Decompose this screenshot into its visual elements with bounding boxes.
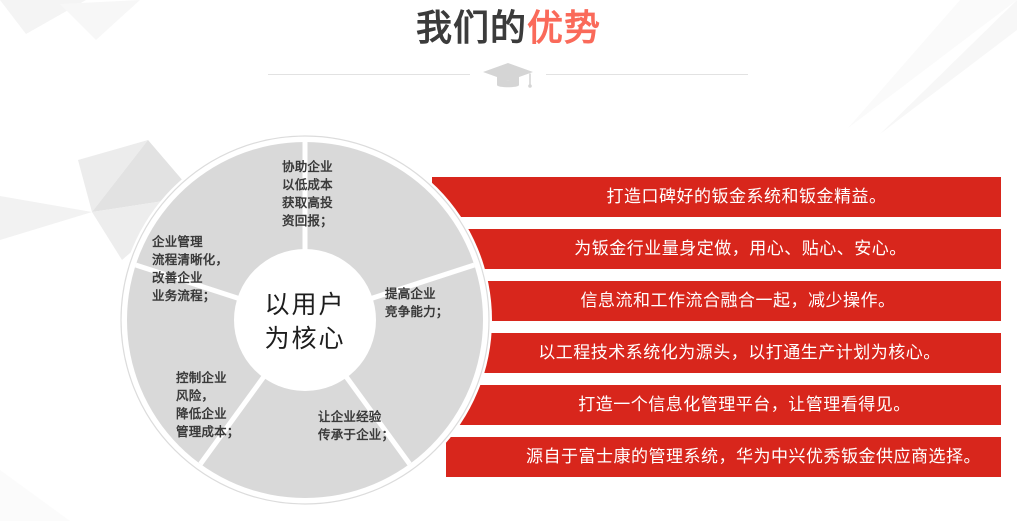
advantage-bar[interactable]: 打造口碑好的钣金系统和钣金精益。 bbox=[432, 177, 1001, 217]
advantage-bar-text: 以工程技术系统化为源头，以打通生产计划为核心。 bbox=[418, 342, 1001, 364]
advantage-bar-text: 打造一个信息化管理平台，让管理看得见。 bbox=[428, 394, 1001, 416]
advantages-section: 我们的优势 打造口碑好的钣金系统和钣金精益。 为钣金行业量身定做，用心、贴心、安… bbox=[0, 0, 1017, 521]
advantage-bar[interactable]: 为钣金行业量身定做，用心、贴心、安心。 bbox=[420, 229, 1001, 269]
segment-label-left-lower: 控制企业 风险， 降低企业 管理成本； bbox=[176, 369, 240, 441]
advantage-bar[interactable]: 打造一个信息化管理平台，让管理看得见。 bbox=[428, 385, 1001, 425]
segment-label-top: 协助企业 以低成本 获取高投 资回报； bbox=[282, 158, 333, 230]
segment-label-right: 提高企业 竞争能力； bbox=[385, 285, 449, 321]
advantage-bar-text: 源自于富士康的管理系统，华为中兴优秀钣金供应商选择。 bbox=[446, 446, 1001, 468]
segment-label-bottom: 让企业经验 传承于企业； bbox=[318, 408, 394, 444]
advantage-bar-text: 打造口碑好的钣金系统和钣金精益。 bbox=[432, 186, 1001, 208]
advantage-bar-text: 为钣金行业量身定做，用心、贴心、安心。 bbox=[420, 238, 1001, 260]
segment-label-left-upper: 企业管理 流程清晰化， 改善企业 业务流程； bbox=[152, 233, 228, 305]
advantage-bar[interactable]: 源自于富士康的管理系统，华为中兴优秀钣金供应商选择。 bbox=[446, 437, 1001, 477]
advantage-bar[interactable]: 信息流和工作流合融合一起，减少操作。 bbox=[415, 281, 1001, 321]
advantage-bar-text: 信息流和工作流合融合一起，减少操作。 bbox=[415, 290, 1001, 312]
wheel-hub-text: 以用户 为核心 bbox=[240, 288, 370, 356]
advantage-bar[interactable]: 以工程技术系统化为源头，以打通生产计划为核心。 bbox=[418, 333, 1001, 373]
